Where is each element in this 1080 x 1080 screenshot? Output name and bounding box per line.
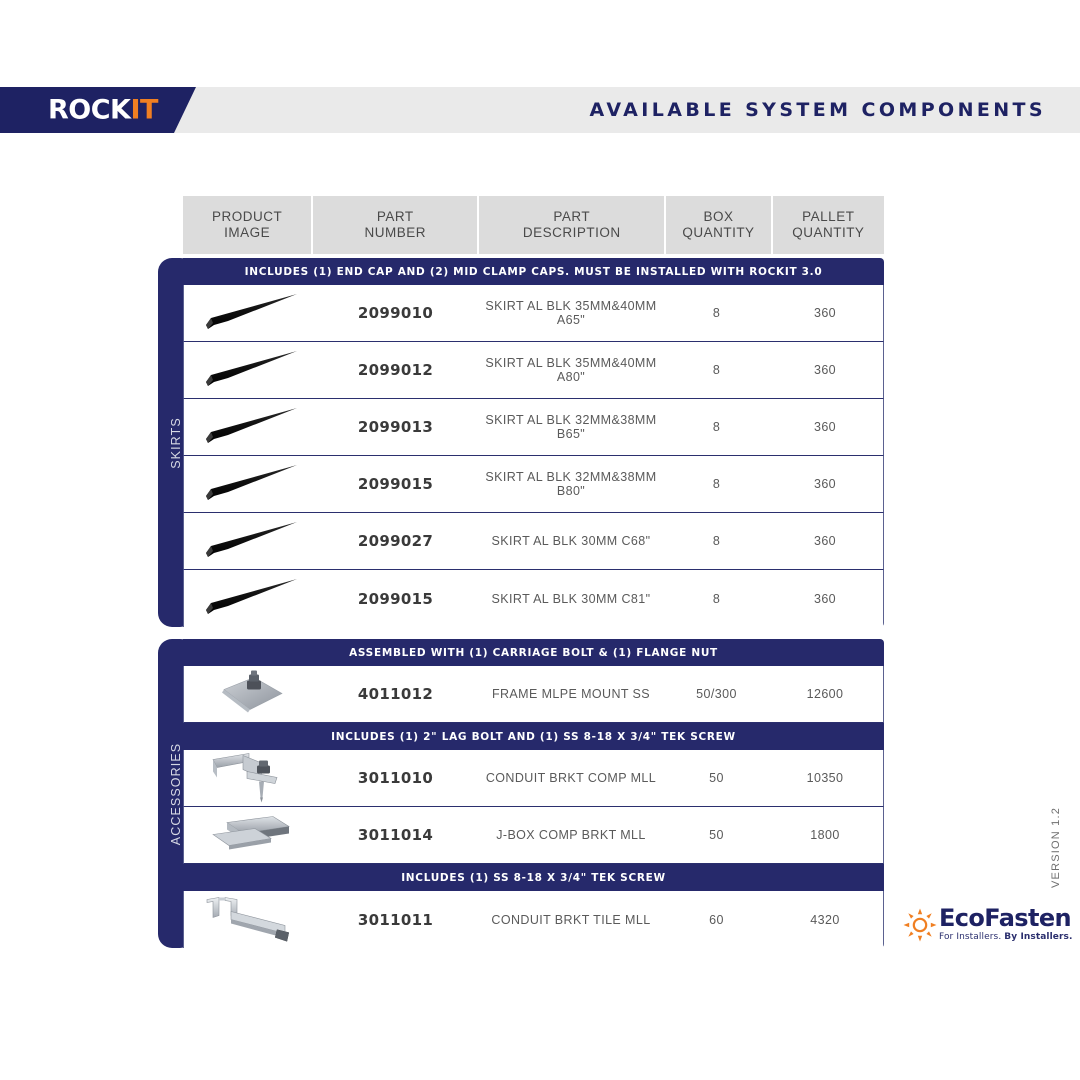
version-label: VERSION 1.2 <box>1050 807 1062 888</box>
cell-pallet-quantity: 360 <box>769 456 881 512</box>
cell-pallet-quantity: 360 <box>769 570 881 627</box>
cell-part-number: 2099013 <box>313 399 478 455</box>
table-column-headers: PRODUCTIMAGEPARTNUMBERPARTDESCRIPTIONBOX… <box>183 196 884 254</box>
sunburst-icon <box>903 908 937 942</box>
ecofasten-tagline-part1: For Installers. <box>939 932 1001 942</box>
cell-product-image <box>184 285 313 341</box>
table-row: 2099010SKIRT AL BLK 35MM&40MM A65"8360 <box>183 285 884 342</box>
column-header-part-number: PARTNUMBER <box>313 196 477 254</box>
cell-part-description: SKIRT AL BLK 35MM&40MM A65" <box>478 285 664 341</box>
group-content: INCLUDES (1) END CAP AND (2) MID CLAMP C… <box>183 258 884 627</box>
cell-part-number: 2099015 <box>313 456 478 512</box>
cell-box-quantity: 50/300 <box>664 666 769 722</box>
cell-pallet-quantity: 10350 <box>769 750 881 806</box>
column-header-part-description: PARTDESCRIPTION <box>479 196 664 254</box>
column-header-line1: PART <box>553 209 590 225</box>
cell-part-number: 2099027 <box>313 513 478 569</box>
skirt-product-image <box>198 349 300 389</box>
page-header: ROCKIT AVAILABLE SYSTEM COMPONENTS <box>0 87 1080 133</box>
cell-product-image <box>184 456 313 512</box>
cell-pallet-quantity: 12600 <box>769 666 881 722</box>
ecofasten-wordmark: EcoFasten For Installers. By Installers. <box>939 905 1073 943</box>
conduit-bracket-tile-product-image <box>199 891 299 948</box>
cell-product-image <box>184 570 313 627</box>
jbox-bracket-product-image <box>201 809 297 862</box>
column-header-line1: PART <box>377 209 414 225</box>
cell-part-number: 3011010 <box>313 750 478 806</box>
cell-product-image <box>184 891 313 948</box>
cell-box-quantity: 50 <box>664 807 769 863</box>
cell-product-image <box>184 750 313 806</box>
cell-product-image <box>184 513 313 569</box>
cell-part-description: SKIRT AL BLK 30MM C68" <box>478 513 664 569</box>
rockit-logo-rock: ROCK <box>48 95 130 126</box>
ecofasten-tagline: For Installers. By Installers. <box>939 931 1073 943</box>
cell-product-image <box>184 399 313 455</box>
table-row: 2099015SKIRT AL BLK 30MM C81"8360 <box>183 570 884 627</box>
cell-box-quantity: 8 <box>664 342 769 398</box>
frame-mount-product-image <box>204 668 294 721</box>
section-note-band: INCLUDES (1) END CAP AND (2) MID CLAMP C… <box>183 258 884 285</box>
cell-part-description: FRAME MLPE MOUNT SS <box>478 666 664 722</box>
cell-product-image <box>184 342 313 398</box>
column-header-line1: PALLET <box>802 209 854 225</box>
ecofasten-logo: EcoFasten For Installers. By Installers. <box>903 905 1043 947</box>
cell-part-description: CONDUIT BRKT TILE MLL <box>478 891 664 948</box>
cell-part-number: 4011012 <box>313 666 478 722</box>
cell-pallet-quantity: 360 <box>769 285 881 341</box>
column-header-pallet-quantity: PALLETQUANTITY <box>773 196 884 254</box>
cell-box-quantity: 8 <box>664 399 769 455</box>
skirt-product-image <box>198 292 300 332</box>
cell-box-quantity: 8 <box>664 285 769 341</box>
cell-pallet-quantity: 360 <box>769 342 881 398</box>
cell-pallet-quantity: 1800 <box>769 807 881 863</box>
cell-part-description: SKIRT AL BLK 30MM C81" <box>478 570 664 627</box>
cell-part-description: SKIRT AL BLK 35MM&40MM A80" <box>478 342 664 398</box>
ecofasten-tagline-part2: By Installers. <box>1004 932 1072 942</box>
rockit-logo: ROCKIT <box>48 97 158 124</box>
column-header-line2: QUANTITY <box>792 225 864 241</box>
column-header-line1: BOX <box>703 209 733 225</box>
cell-box-quantity: 8 <box>664 513 769 569</box>
section-note-band: ASSEMBLED WITH (1) CARRIAGE BOLT & (1) F… <box>183 639 884 666</box>
table-row: 3011014J-BOX COMP BRKT MLL501800 <box>183 807 884 864</box>
column-header-product-image: PRODUCTIMAGE <box>183 196 311 254</box>
page-title: AVAILABLE SYSTEM COMPONENTS <box>590 99 1047 121</box>
cell-pallet-quantity: 360 <box>769 513 881 569</box>
cell-pallet-quantity: 360 <box>769 399 881 455</box>
cell-part-description: J-BOX COMP BRKT MLL <box>478 807 664 863</box>
cell-part-number: 2099012 <box>313 342 478 398</box>
cell-pallet-quantity: 4320 <box>769 891 881 948</box>
cell-part-number: 3011011 <box>313 891 478 948</box>
table-row: 4011012FRAME MLPE MOUNT SS50/30012600 <box>183 666 884 723</box>
column-header-line2: NUMBER <box>365 225 427 241</box>
skirt-product-image <box>198 520 300 560</box>
cell-product-image <box>184 666 313 722</box>
table-row: 2099027SKIRT AL BLK 30MM C68"8360 <box>183 513 884 570</box>
column-header-line1: PRODUCT <box>212 209 282 225</box>
group-content: ASSEMBLED WITH (1) CARRIAGE BOLT & (1) F… <box>183 639 884 948</box>
cell-box-quantity: 60 <box>664 891 769 948</box>
section-note-band: INCLUDES (1) SS 8-18 X 3/4" TEK SCREW <box>183 864 884 891</box>
cell-part-number: 2099015 <box>313 570 478 627</box>
cell-box-quantity: 8 <box>664 456 769 512</box>
rockit-logo-it: IT <box>130 95 157 126</box>
cell-box-quantity: 8 <box>664 570 769 627</box>
column-header-box-quantity: BOXQUANTITY <box>666 196 770 254</box>
cell-box-quantity: 50 <box>664 750 769 806</box>
column-header-line2: QUANTITY <box>682 225 754 241</box>
table-row: 3011010CONDUIT BRKT COMP MLL5010350 <box>183 750 884 807</box>
group-label: SKIRTS <box>169 417 183 469</box>
column-header-line2: DESCRIPTION <box>523 225 621 241</box>
conduit-bracket-comp-product-image <box>203 748 295 809</box>
cell-part-description: SKIRT AL BLK 32MM&38MM B80" <box>478 456 664 512</box>
table-row: 2099015SKIRT AL BLK 32MM&38MM B80"8360 <box>183 456 884 513</box>
skirt-product-image <box>198 463 300 503</box>
table-row: 2099013SKIRT AL BLK 32MM&38MM B65"8360 <box>183 399 884 456</box>
table-row: 2099012SKIRT AL BLK 35MM&40MM A80"8360 <box>183 342 884 399</box>
table-row: 3011011CONDUIT BRKT TILE MLL604320 <box>183 891 884 948</box>
skirt-product-image <box>198 406 300 446</box>
group-label: ACCESSORIES <box>169 742 183 844</box>
cell-part-description: SKIRT AL BLK 32MM&38MM B65" <box>478 399 664 455</box>
skirt-product-image <box>198 577 300 617</box>
cell-part-number: 3011014 <box>313 807 478 863</box>
cell-part-number: 2099010 <box>313 285 478 341</box>
cell-product-image <box>184 807 313 863</box>
cell-part-description: CONDUIT BRKT COMP MLL <box>478 750 664 806</box>
section-note-band: INCLUDES (1) 2" LAG BOLT AND (1) SS 8-18… <box>183 723 884 750</box>
ecofasten-name: EcoFasten <box>939 905 1073 931</box>
column-header-line2: IMAGE <box>224 225 270 241</box>
